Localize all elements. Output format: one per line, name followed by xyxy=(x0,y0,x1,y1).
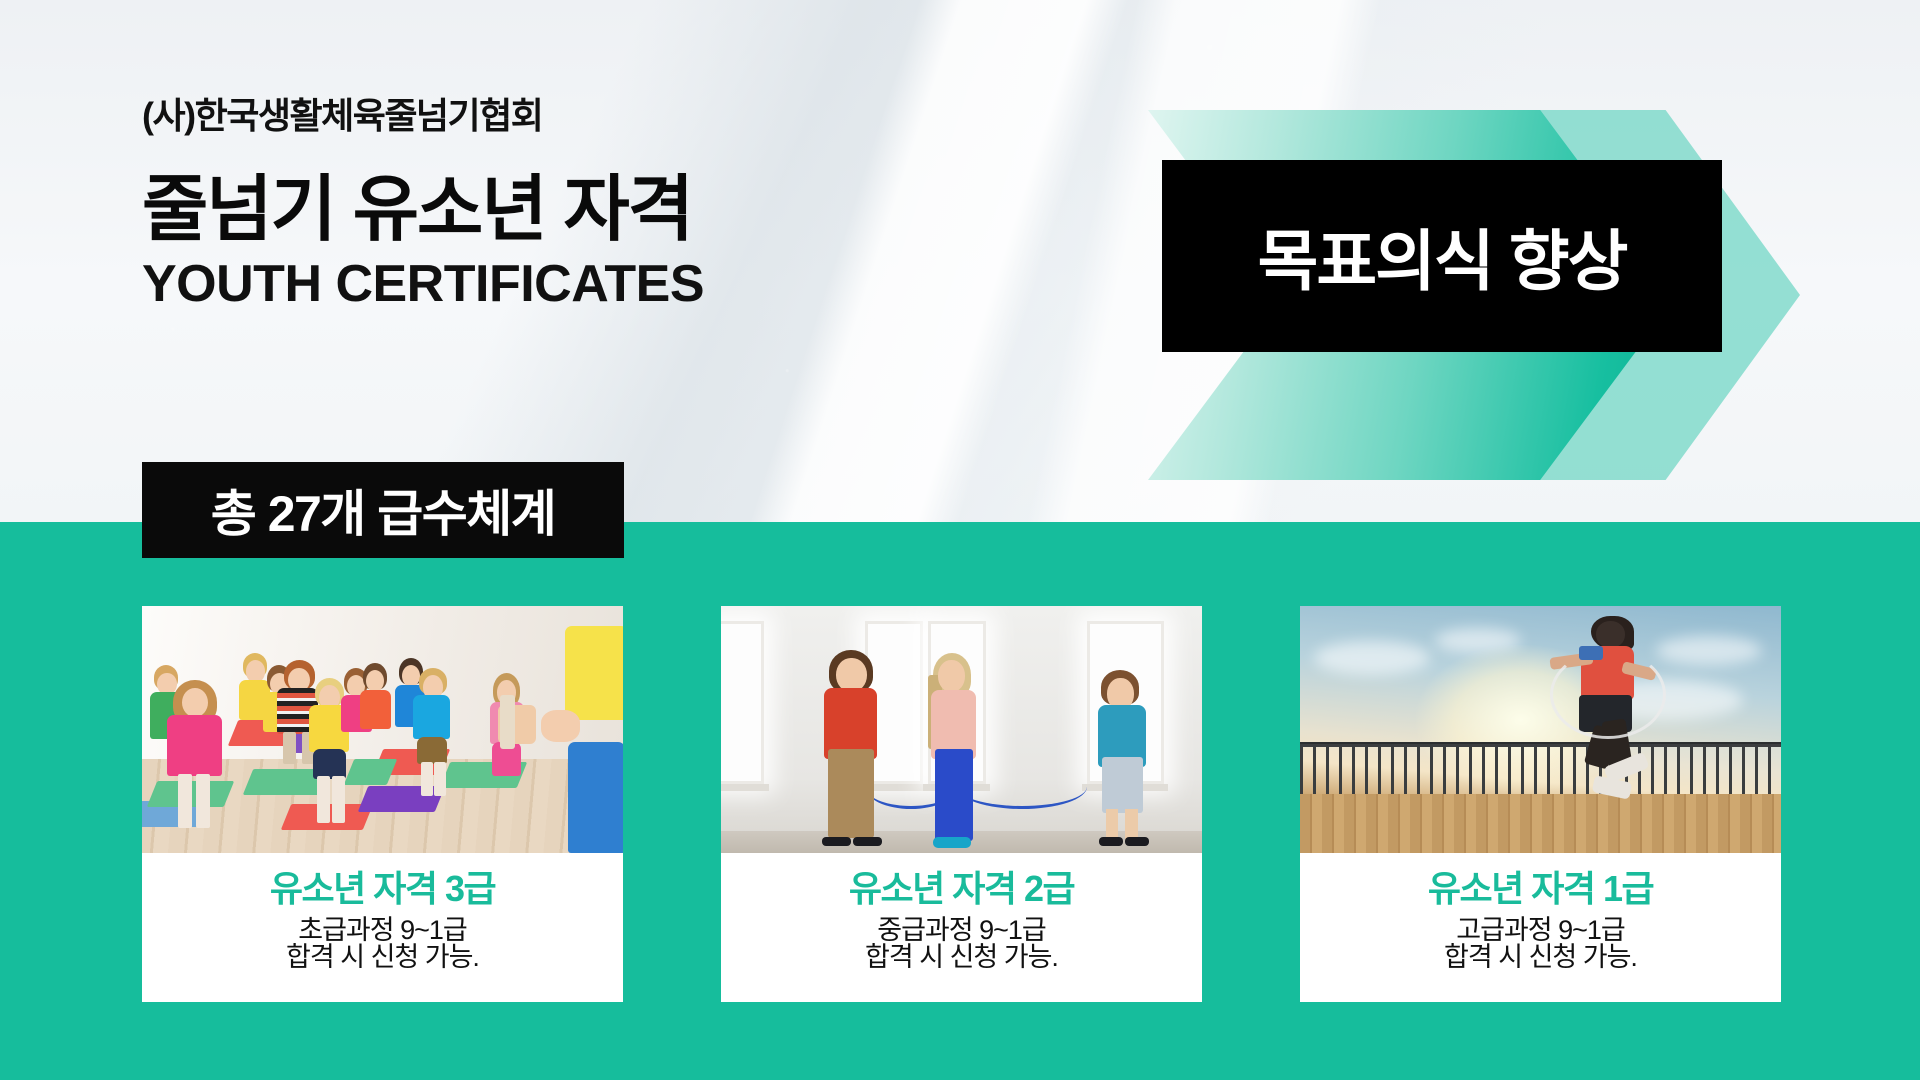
card-line-2: 합격 시 신청 가능. xyxy=(865,944,1058,972)
card-title: 유소년 자격 1급 xyxy=(1428,869,1653,909)
card-photo-gym-kids xyxy=(142,606,623,853)
card-line-1: 초급과정 9~1급 xyxy=(298,917,467,945)
card-text-body: 유소년 자격 1급 고급과정 9~1급 합격 시 신청 가능. xyxy=(1300,853,1781,1002)
grade-count-badge-label: 총 27개 급수체계 xyxy=(211,474,555,546)
headline-text: 목표의식 향상 xyxy=(1258,208,1627,304)
card-text-body: 유소년 자격 2급 중급과정 9~1급 합격 시 신청 가능. xyxy=(721,853,1202,1002)
certificate-card-list: 유소년 자격 3급 초급과정 9~1급 합격 시 신청 가능. xyxy=(142,606,1782,1002)
certificate-card[interactable]: 유소년 자격 3급 초급과정 9~1급 합격 시 신청 가능. xyxy=(142,606,623,1002)
card-photo-sunset-jump xyxy=(1300,606,1781,853)
card-line-1: 고급과정 9~1급 xyxy=(1456,917,1625,945)
card-line-2: 합격 시 신청 가능. xyxy=(1444,944,1637,972)
card-title: 유소년 자격 2급 xyxy=(849,869,1074,909)
certificate-card[interactable]: 유소년 자격 2급 중급과정 9~1급 합격 시 신청 가능. xyxy=(721,606,1202,1002)
card-line-1: 중급과정 9~1급 xyxy=(877,917,1046,945)
card-photo-three-children xyxy=(721,606,1202,853)
grade-count-badge: 총 27개 급수체계 xyxy=(142,462,624,558)
card-text-body: 유소년 자격 3급 초급과정 9~1급 합격 시 신청 가능. xyxy=(142,853,623,1002)
organization-name: (사)한국생활체육줄넘기협회 xyxy=(142,96,704,136)
headline-banner: 목표의식 향상 xyxy=(1162,160,1722,352)
certificate-card[interactable]: 유소년 자격 1급 고급과정 9~1급 합격 시 신청 가능. xyxy=(1300,606,1781,1002)
page-subtitle: YOUTH CERTIFICATES xyxy=(142,258,704,310)
page-title: 줄넘기 유소년 자격 xyxy=(142,174,704,246)
header-block: (사)한국생활체육줄넘기협회 줄넘기 유소년 자격 YOUTH CERTIFIC… xyxy=(142,96,704,310)
card-title: 유소년 자격 3급 xyxy=(270,869,495,909)
card-line-2: 합격 시 신청 가능. xyxy=(286,944,479,972)
